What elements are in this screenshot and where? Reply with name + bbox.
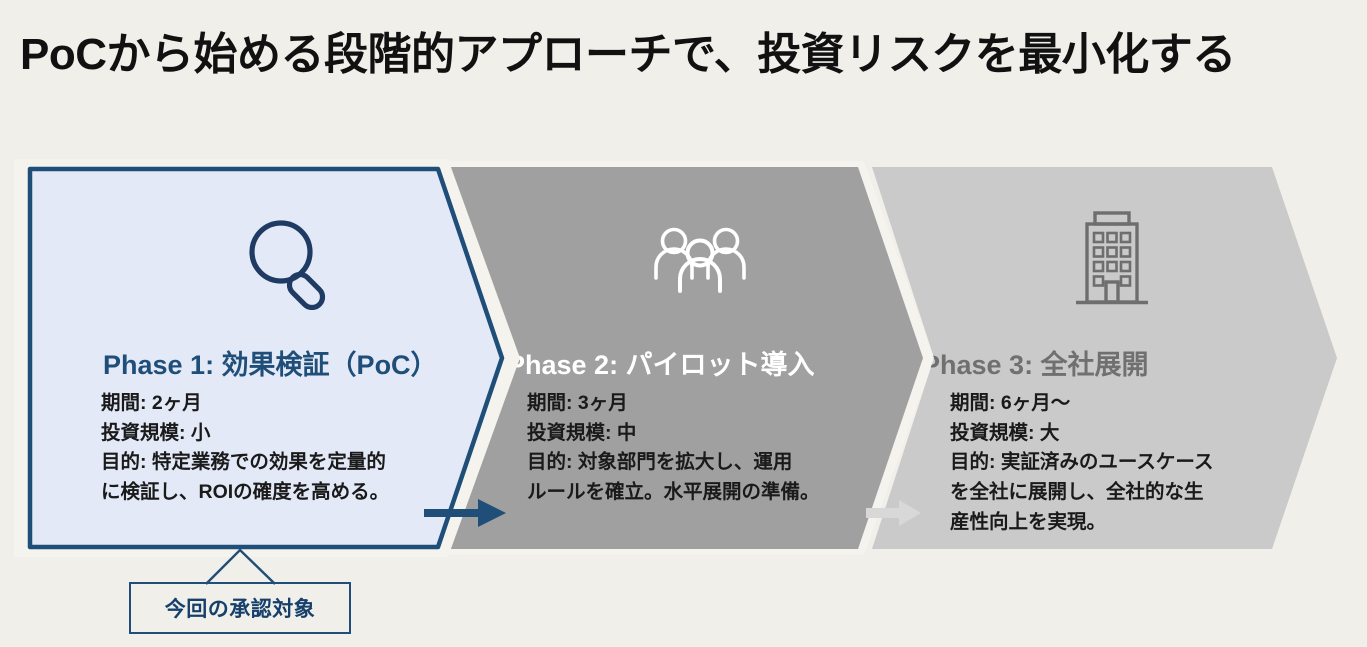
- phase3-heading: Phase 3: 全社展開: [922, 343, 1149, 382]
- arrow-phase1-phase2-icon: [424, 496, 508, 530]
- phase1-heading: Phase 1: 効果検証（PoC）: [103, 343, 438, 382]
- callout-pointer: [205, 546, 277, 586]
- phase3-details: 期間: 6ヶ月〜 投資規模: 大 目的: 実証済みのユースケース を全社に展開し…: [950, 389, 1213, 537]
- phase-card-phase2[interactable]: Phase 2: パイロット導入 期間: 3ヶ月 投資規模: 中 目的: 対象部…: [450, 167, 928, 549]
- phase-roadmap: Phase 3: 全社展開 期間: 6ヶ月〜 投資規模: 大 目的: 実証済みの…: [0, 160, 1367, 560]
- phase1-details: 期間: 2ヶ月 投資規模: 小 目的: 特定業務での効果を定量的 に検証し、RO…: [101, 389, 389, 508]
- people-group-icon: [630, 209, 770, 309]
- phase-card-phase3[interactable]: Phase 3: 全社展開 期間: 6ヶ月〜 投資規模: 大 目的: 実証済みの…: [872, 167, 1337, 549]
- slide-canvas: PoCから始める段階的アプローチで、投資リスクを最小化する: [0, 0, 1367, 647]
- phase2-heading: Phase 2: パイロット導入: [507, 343, 815, 382]
- magnifier-icon: [218, 207, 358, 317]
- phase-card-phase1[interactable]: Phase 1: 効果検証（PoC） 期間: 2ヶ月 投資規模: 小 目的: 特…: [28, 167, 506, 549]
- arrow-phase2-phase3-icon: [866, 498, 922, 528]
- phase2-details: 期間: 3ヶ月 投資規模: 中 目的: 対象部門を拡大し、運用 ルールを確立。水…: [527, 389, 820, 508]
- office-building-icon: [1042, 199, 1182, 319]
- approval-scope-callout[interactable]: 今回の承認対象: [129, 582, 351, 634]
- page-title: PoCから始める段階的アプローチで、投資リスクを最小化する: [20, 18, 1350, 82]
- callout-label: 今回の承認対象: [165, 593, 316, 623]
